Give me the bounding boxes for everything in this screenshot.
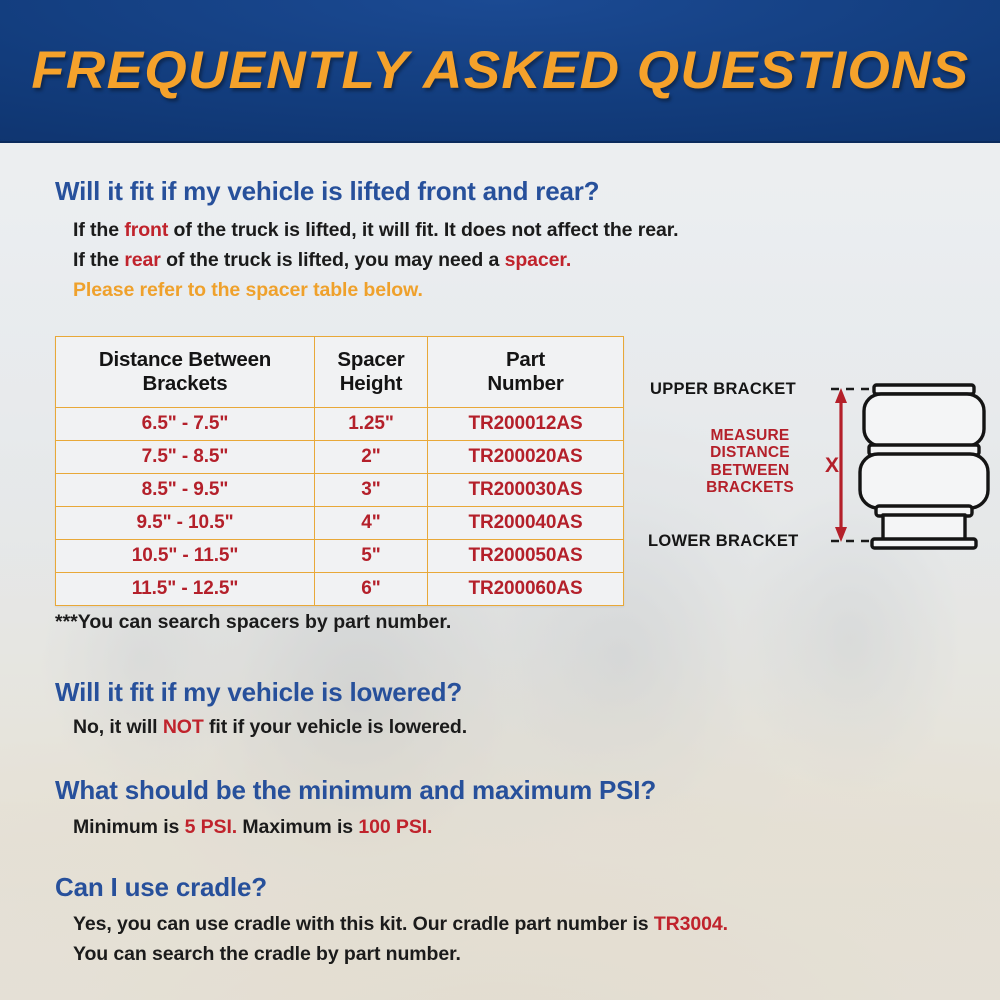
lower-bracket-plate	[872, 539, 976, 548]
answer-text: of the truck is lifted, you may need a	[161, 249, 505, 271]
faq-answer-1-line-2: If the rear of the truck is lifted, you …	[73, 249, 571, 272]
spacer-table-body: 6.5" - 7.5" 1.25" TR200012AS 7.5" - 8.5"…	[56, 408, 624, 606]
table-row: 10.5" - 11.5" 5" TR200050AS	[56, 540, 624, 573]
table-row: 11.5" - 12.5" 6" TR200060AS	[56, 573, 624, 606]
cell-spacer-height: 2"	[315, 441, 428, 474]
answer-highlight-not: NOT	[163, 716, 204, 738]
answer-text: Maximum is	[237, 816, 358, 838]
answer-highlight-min-psi: 5 PSI.	[185, 816, 238, 838]
page-header-banner: FREQUENTLY ASKED QUESTIONS	[0, 0, 1000, 143]
measure-caption: MEASURE DISTANCE BETWEEN BRACKETS	[685, 427, 815, 496]
faq-question-2: Will it fit if my vehicle is lowered?	[55, 677, 462, 708]
air-spring-diagram: UPPER BRACKET LOWER BRACKET MEASURE DIST…	[645, 371, 995, 571]
page-title: FREQUENTLY ASKED QUESTIONS	[31, 40, 969, 101]
cell-distance: 6.5" - 7.5"	[56, 408, 315, 441]
table-row: 7.5" - 8.5" 2" TR200020AS	[56, 441, 624, 474]
table-row: 9.5" - 10.5" 4" TR200040AS	[56, 507, 624, 540]
faq-answer-4-line-1: Yes, you can use cradle with this kit. O…	[73, 913, 728, 936]
cell-distance: 11.5" - 12.5"	[56, 573, 315, 606]
answer-highlight-max-psi: 100 PSI.	[358, 816, 432, 838]
table-row: 6.5" - 7.5" 1.25" TR200012AS	[56, 408, 624, 441]
cell-part-number: TR200012AS	[428, 408, 624, 441]
column-header-part-number: Part Number	[428, 337, 624, 408]
header-line-1: Distance Between	[99, 348, 271, 371]
cell-part-number: TR200040AS	[428, 507, 624, 540]
measure-line-1: MEASURE	[685, 427, 815, 444]
column-header-spacer-height: Spacer Height	[315, 337, 428, 408]
answer-highlight-front: front	[124, 219, 168, 241]
dimension-symbol-x: X	[825, 454, 839, 478]
upper-convolution	[864, 394, 984, 446]
lower-bracket-label: LOWER BRACKET	[648, 532, 799, 551]
cell-distance: 10.5" - 11.5"	[56, 540, 315, 573]
measure-line-2: DISTANCE	[685, 444, 815, 461]
answer-highlight-cradle-part: TR3004.	[654, 913, 728, 935]
faq-page: FREQUENTLY ASKED QUESTIONS Will it fit i…	[0, 0, 1000, 1000]
answer-text: No, it will	[73, 716, 163, 738]
column-header-distance: Distance Between Brackets	[56, 337, 315, 408]
header-line-2: Number	[487, 372, 563, 395]
header-line-2: Height	[340, 372, 403, 395]
cell-distance: 7.5" - 8.5"	[56, 441, 315, 474]
faq-question-4: Can I use cradle?	[55, 872, 267, 903]
answer-text: If the	[73, 219, 124, 241]
cell-spacer-height: 5"	[315, 540, 428, 573]
faq-question-3: What should be the minimum and maximum P…	[55, 775, 656, 806]
air-spring-body	[860, 385, 988, 548]
cell-distance: 8.5" - 9.5"	[56, 474, 315, 507]
faq-answer-1-line-1: If the front of the truck is lifted, it …	[73, 219, 678, 242]
cell-spacer-height: 4"	[315, 507, 428, 540]
answer-highlight-rear: rear	[124, 249, 160, 271]
cell-spacer-height: 1.25"	[315, 408, 428, 441]
table-header-row: Distance Between Brackets Spacer Height …	[56, 337, 624, 408]
answer-text: Yes, you can use cradle with this kit. O…	[73, 913, 654, 935]
faq-answer-4-line-2: You can search the cradle by part number…	[73, 943, 461, 966]
cell-part-number: TR200060AS	[428, 573, 624, 606]
faq-question-1: Will it fit if my vehicle is lifted fron…	[55, 176, 599, 207]
lower-convolution	[860, 454, 988, 508]
answer-highlight-spacer: spacer.	[505, 249, 572, 271]
measure-line-3: BETWEEN	[685, 462, 815, 479]
table-row: 8.5" - 9.5" 3" TR200030AS	[56, 474, 624, 507]
answer-text: If the	[73, 249, 124, 271]
answer-text: fit if your vehicle is lowered.	[204, 716, 467, 738]
cell-part-number: TR200050AS	[428, 540, 624, 573]
faq-answer-1-line-3: Please refer to the spacer table below.	[73, 279, 423, 302]
cell-part-number: TR200030AS	[428, 474, 624, 507]
answer-text: of the truck is lifted, it will fit. It …	[168, 219, 678, 241]
cell-part-number: TR200020AS	[428, 441, 624, 474]
cell-spacer-height: 6"	[315, 573, 428, 606]
faq-answer-3-line-1: Minimum is 5 PSI. Maximum is 100 PSI.	[73, 816, 432, 839]
header-line-1: Part	[506, 348, 545, 371]
header-line-1: Spacer	[337, 348, 404, 371]
faq-content: Will it fit if my vehicle is lifted fron…	[0, 141, 1000, 1000]
upper-bracket-label: UPPER BRACKET	[650, 380, 796, 399]
measure-line-4: BRACKETS	[685, 479, 815, 496]
cell-spacer-height: 3"	[315, 474, 428, 507]
spacer-table-note: ***You can search spacers by part number…	[55, 611, 451, 634]
cell-distance: 9.5" - 10.5"	[56, 507, 315, 540]
faq-answer-2-line-1: No, it will NOT fit if your vehicle is l…	[73, 716, 467, 739]
spacer-table-head: Distance Between Brackets Spacer Height …	[56, 337, 624, 408]
spacer-table: Distance Between Brackets Spacer Height …	[55, 336, 624, 606]
answer-text: Minimum is	[73, 816, 185, 838]
header-line-2: Brackets	[142, 372, 227, 395]
